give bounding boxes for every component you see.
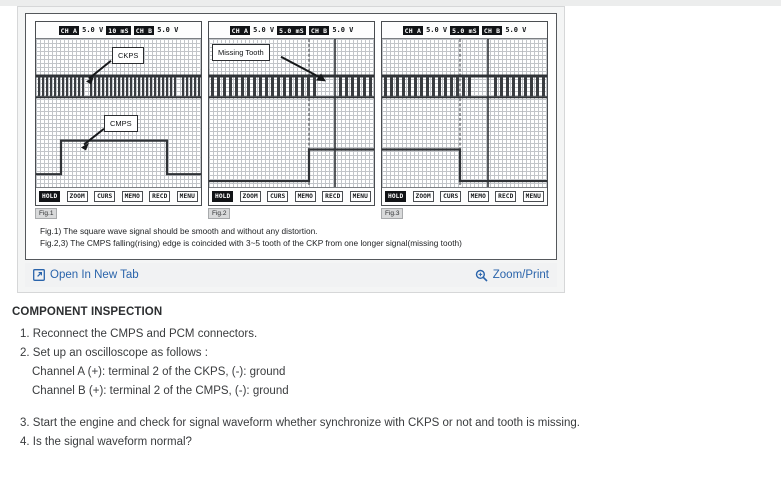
scope-2-timebase: 5.0 mS [277,26,306,35]
scope-1-key-menu[interactable]: MENU [177,191,198,202]
scope-1-ch-b-tag: CH B [134,26,154,35]
missing-tooth-callout: Missing Tooth [212,44,270,61]
scope-3-key-menu[interactable]: MENU [523,191,544,202]
step-4: 4. Is the signal waveform normal? [20,433,772,452]
figure-image-frame: CH A 5.0 V 10 mS CH B 5.0 V [25,13,557,260]
scope-2-header: CH A 5.0 V 5.0 mS CH B 5.0 V [209,22,374,39]
scope-1-timebase: 10 mS [106,26,131,35]
scope-3-timebase: 5.0 mS [450,26,479,35]
missing-tooth-callout-label: Missing Tooth [218,48,264,57]
caption-line-1: Fig.1) The square wave signal should be … [40,225,550,237]
spacer [12,401,772,414]
scope-1-ch-a-tag: CH A [59,26,79,35]
scope-2-ch-a-value: 5.0 V [253,26,274,34]
step-2: 2. Set up an oscilloscope as follows : [20,344,772,363]
figure-captions: Fig.1) The square wave signal should be … [40,225,550,249]
scope-1-header: CH A 5.0 V 10 mS CH B 5.0 V [36,22,201,39]
oscilloscope-fig-3: CH A 5.0 V 5.0 mS CH B 5.0 V [381,21,548,206]
scope-3-ch-b-tag: CH B [482,26,502,35]
scope-3-ch-a-value: 5.0 V [426,26,447,34]
figure-viewer-panel: CH A 5.0 V 10 mS CH B 5.0 V [17,6,565,293]
scope-3-header: CH A 5.0 V 5.0 mS CH B 5.0 V [382,22,547,39]
figure-toolbar: Open In New Tab Zoom/Print [25,263,557,287]
scope-1-key-curs[interactable]: CURS [94,191,115,202]
open-in-new-tab-icon [33,269,45,281]
fig-2-chip: Fig.2 [208,208,230,219]
scope-3-key-memo[interactable]: MEMO [468,191,489,202]
scope-2-key-hold[interactable]: HOLD [212,191,233,202]
scope-2-waveform [209,39,374,187]
scope-3-key-recd[interactable]: RECD [495,191,516,202]
scope-2-ch-b-tag: CH B [309,26,329,35]
figure-chip-row: Fig.1 Fig.2 Fig.3 [35,208,549,220]
zoom-print-label: Zoom/Print [493,269,549,281]
open-in-new-tab-label: Open In New Tab [50,269,139,281]
cmps-callout: CMPS [104,115,138,132]
scope-2-key-zoom[interactable]: ZOOM [240,191,261,202]
scope-3-waveform [382,39,547,187]
scope-2-screen: Missing Tooth [209,39,374,187]
ckps-callout-label: CKPS [118,51,138,60]
channel-a-setup: Channel A (+): terminal 2 of the CKPS, (… [32,363,772,382]
open-in-new-tab-link[interactable]: Open In New Tab [33,269,139,281]
scope-2-key-menu[interactable]: MENU [350,191,371,202]
scope-3-key-hold[interactable]: HOLD [385,191,406,202]
component-inspection-section: COMPONENT INSPECTION 1. Reconnect the CM… [12,306,772,452]
scope-1-screen: CKPS CMPS [36,39,201,187]
fig-1-chip: Fig.1 [35,208,57,219]
oscilloscope-fig-1: CH A 5.0 V 10 mS CH B 5.0 V [35,21,202,206]
scope-3-ch-a-tag: CH A [403,26,423,35]
scope-3-ch-b-value: 5.0 V [505,26,526,34]
oscilloscope-row: CH A 5.0 V 10 mS CH B 5.0 V [35,21,549,206]
step-1: 1. Reconnect the CMPS and PCM connectors… [20,325,772,344]
section-heading: COMPONENT INSPECTION [12,306,772,318]
scope-1-ch-b-value: 5.0 V [157,26,178,34]
scope-2-key-memo[interactable]: MEMO [295,191,316,202]
caption-line-2: Fig.2,3) The CMPS falling(rising) edge i… [40,237,550,249]
page-root: CH A 5.0 V 10 mS CH B 5.0 V [0,0,781,478]
scope-1-key-memo[interactable]: MEMO [122,191,143,202]
zoom-print-link[interactable]: Zoom/Print [475,269,549,282]
channel-b-setup: Channel B (+): terminal 2 of the CMPS, (… [32,382,772,401]
scope-2-ch-a-tag: CH A [230,26,250,35]
oscilloscope-fig-2: CH A 5.0 V 5.0 mS CH B 5.0 V [208,21,375,206]
cmps-callout-label: CMPS [110,119,132,128]
scope-2-softkeys: HOLD ZOOM CURS MEMO RECD MENU [209,187,374,205]
scope-1-ch-a-value: 5.0 V [82,26,103,34]
scope-1-key-hold[interactable]: HOLD [39,191,60,202]
fig-3-chip: Fig.3 [381,208,403,219]
scope-2-ch-b-value: 5.0 V [332,26,353,34]
scope-1-softkeys: HOLD ZOOM CURS MEMO RECD MENU [36,187,201,205]
step-3: 3. Start the engine and check for signal… [20,414,772,433]
scope-2-key-recd[interactable]: RECD [322,191,343,202]
scope-3-key-zoom[interactable]: ZOOM [413,191,434,202]
scope-3-softkeys: HOLD ZOOM CURS MEMO RECD MENU [382,187,547,205]
ckps-callout: CKPS [112,47,144,64]
scope-3-screen [382,39,547,187]
scope-2-key-curs[interactable]: CURS [267,191,288,202]
scope-1-key-recd[interactable]: RECD [149,191,170,202]
scope-1-key-zoom[interactable]: ZOOM [67,191,88,202]
scope-3-key-curs[interactable]: CURS [440,191,461,202]
magnifier-icon [475,269,488,282]
